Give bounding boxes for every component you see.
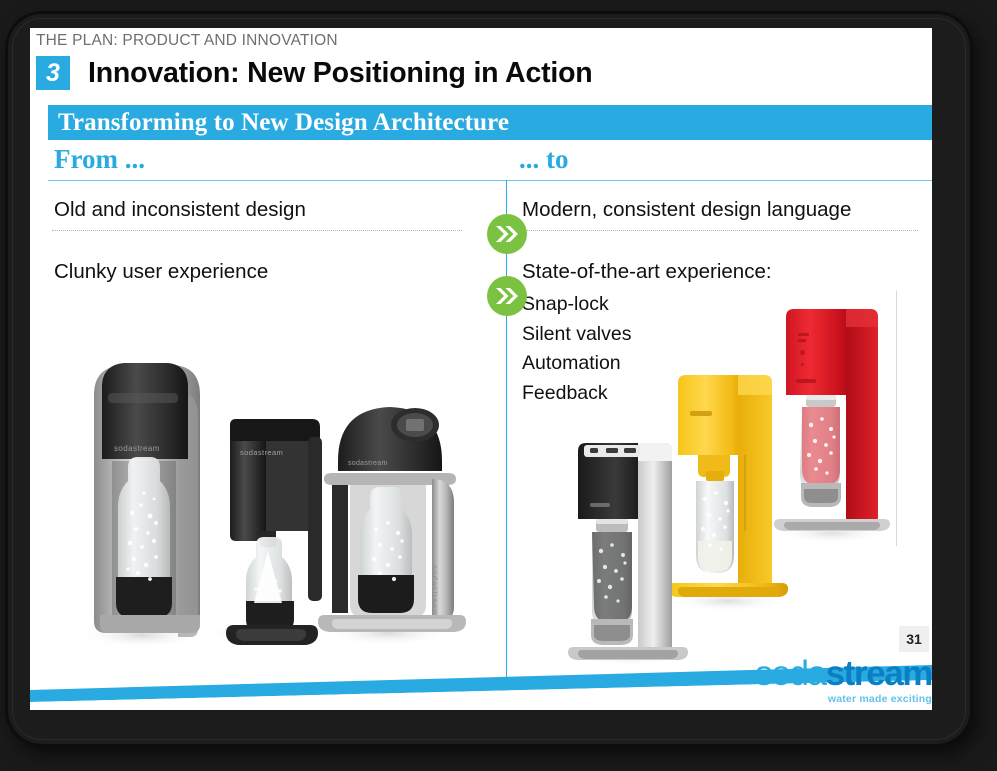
section-banner-label: Transforming to New Design Architecture	[58, 109, 509, 137]
left-bullet-1: Old and inconsistent design	[54, 198, 306, 222]
svg-text:sodastream: sodastream	[348, 460, 388, 467]
column-divider-line	[506, 180, 507, 680]
section-banner: Transforming to New Design Architecture	[48, 105, 932, 140]
slide-title-row: 3 Innovation: New Positioning in Action	[36, 52, 593, 94]
right-bullet-1: Modern, consistent design language	[522, 198, 851, 222]
new-products-photo	[530, 293, 926, 668]
logo-wordmark: sodastream	[755, 656, 932, 691]
page-title: Innovation: New Positioning in Action	[88, 57, 593, 90]
logo-tagline: water made exciting	[755, 694, 932, 705]
photo-right-divider	[896, 291, 897, 546]
sodastream-logo: sodastream water made exciting	[755, 656, 932, 705]
logo-word-stream: stream	[826, 654, 932, 693]
presentation-slide: THE PLAN: PRODUCT AND INNOVATION 3 Innov…	[30, 28, 932, 710]
svg-text:sodastream: sodastream	[114, 444, 160, 453]
section-number-badge: 3	[36, 56, 70, 90]
left-bullet-separator	[52, 230, 462, 231]
column-header-from: From ...	[54, 144, 145, 175]
old-products-photo: sodastream	[70, 333, 470, 663]
right-bullet-2: State-of-the-art experience:	[522, 260, 772, 284]
page-number-badge: 31	[899, 626, 929, 652]
right-bullet-separator	[520, 230, 918, 231]
double-chevron-right-icon	[487, 276, 527, 316]
header-divider-rule	[48, 180, 932, 181]
svg-text:sodastream: sodastream	[240, 448, 283, 457]
left-bullet-2: Clunky user experience	[54, 260, 268, 284]
logo-word-soda: soda	[755, 654, 825, 693]
column-header-to: ... to	[519, 144, 569, 175]
double-chevron-right-icon	[487, 214, 527, 254]
slide-eyebrow: THE PLAN: PRODUCT AND INNOVATION	[36, 32, 338, 50]
svg-text:sodastream: sodastream	[430, 565, 439, 617]
